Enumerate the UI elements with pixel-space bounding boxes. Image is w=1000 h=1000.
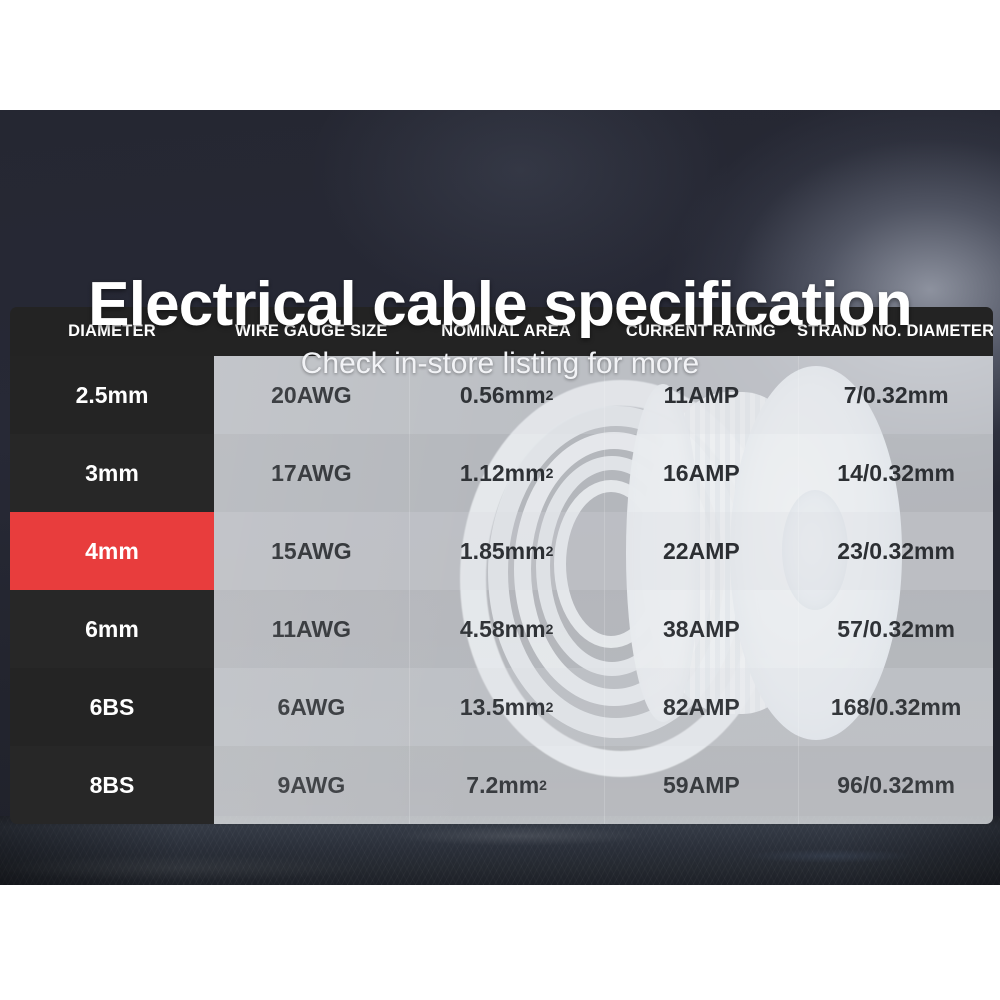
table-row[interactable]: 3mm17AWG1.12mm216AMP14/0.32mm: [10, 434, 993, 512]
cell-nominal-area: 1.12mm2: [409, 434, 604, 512]
cell-current-rating: 59AMP: [604, 746, 799, 824]
cell-wire-gauge-size: 17AWG: [214, 434, 409, 512]
cell-diameter: 6mm: [10, 590, 214, 668]
cell-nominal-area: 4.58mm2: [409, 590, 604, 668]
cell-diameter: 6BS: [10, 668, 214, 746]
cell-wire-gauge-size: 15AWG: [214, 512, 409, 590]
cell-strand-no-diameter: 57/0.32mm: [798, 590, 993, 668]
cell-strand-no-diameter: 168/0.32mm: [798, 668, 993, 746]
cell-current-rating: 16AMP: [604, 434, 799, 512]
cell-strand-no-diameter: 23/0.32mm: [798, 512, 993, 590]
product-infographic: Electrical cable specification Check in-…: [0, 0, 1000, 1000]
cell-diameter: 8BS: [10, 746, 214, 824]
cell-strand-no-diameter: 96/0.32mm: [798, 746, 993, 824]
cell-current-rating: 82AMP: [604, 668, 799, 746]
table-row[interactable]: 6mm11AWG4.58mm238AMP57/0.32mm: [10, 590, 993, 668]
table-row[interactable]: 4mm15AWG1.85mm222AMP23/0.32mm: [10, 512, 993, 590]
cell-current-rating: 38AMP: [604, 590, 799, 668]
cell-nominal-area: 13.5mm2: [409, 668, 604, 746]
concrete-floor: [0, 816, 1000, 885]
table-body: 2.5mm20AWG0.56mm211AMP7/0.32mm3mm17AWG1.…: [10, 356, 993, 824]
cell-wire-gauge-size: 6AWG: [214, 668, 409, 746]
cell-nominal-area: 1.85mm2: [409, 512, 604, 590]
photo-scene: Electrical cable specification Check in-…: [0, 110, 1000, 885]
page-subtitle: Check in-store listing for more: [0, 344, 1000, 384]
cell-diameter: 3mm: [10, 434, 214, 512]
cell-wire-gauge-size: 11AWG: [214, 590, 409, 668]
cell-current-rating: 22AMP: [604, 512, 799, 590]
cell-nominal-area: 7.2mm2: [409, 746, 604, 824]
page-title: Electrical cable specification: [0, 270, 1000, 340]
cell-strand-no-diameter: 14/0.32mm: [798, 434, 993, 512]
cell-wire-gauge-size: 9AWG: [214, 746, 409, 824]
table-row[interactable]: 6BS6AWG13.5mm282AMP168/0.32mm: [10, 668, 993, 746]
table-row[interactable]: 8BS9AWG7.2mm259AMP96/0.32mm: [10, 746, 993, 824]
specification-table: DIAMETER WIRE GAUGE SIZE NOMINAL AREA CU…: [10, 307, 993, 824]
cell-diameter: 4mm: [10, 512, 214, 590]
heading-block: Electrical cable specification Check in-…: [0, 270, 1000, 384]
